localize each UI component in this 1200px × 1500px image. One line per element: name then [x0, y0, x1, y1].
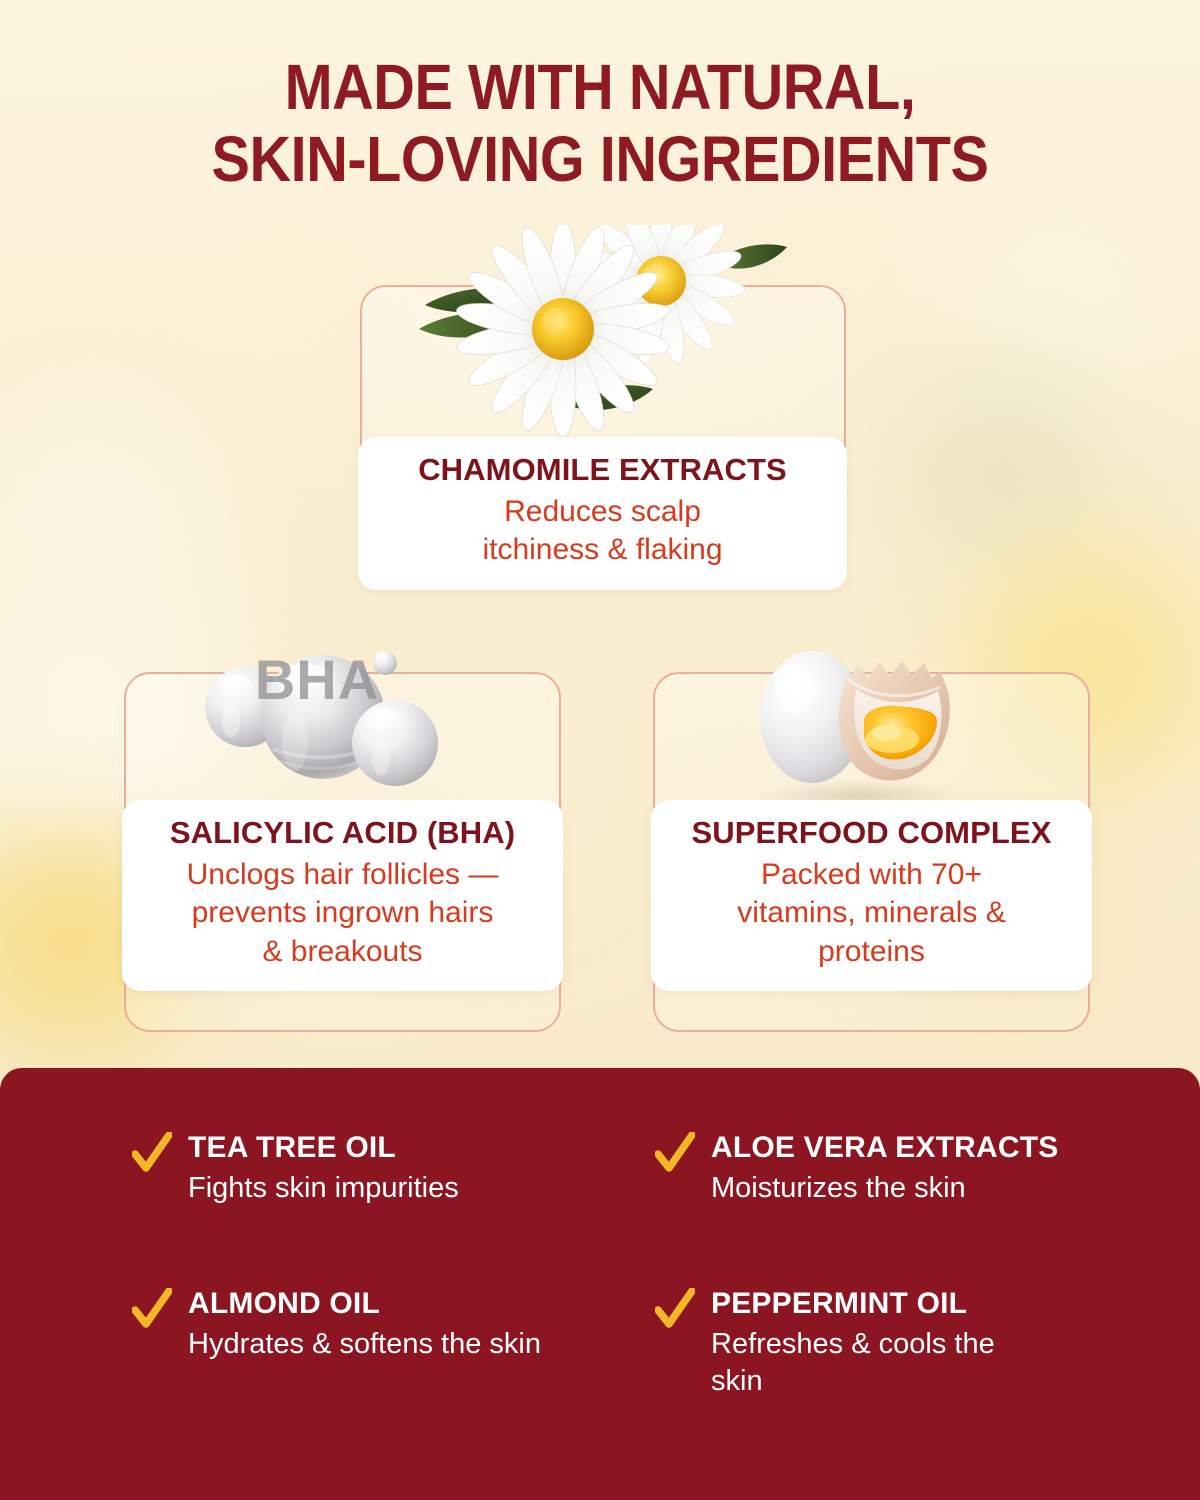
ingredient-title: SUPERFOOD COMPLEX — [665, 816, 1078, 851]
ingredient-description: Packed with 70+ vitamins, minerals & pro… — [665, 856, 1078, 971]
benefit-description: Hydrates & softens the skin — [188, 1326, 541, 1364]
ingredient-title: SALICYLIC ACID (BHA) — [136, 816, 549, 851]
benefit-name: PEPPERMINT OIL — [711, 1287, 967, 1320]
benefit-name: TEA TREE OIL — [188, 1131, 396, 1164]
benefit-name: ALMOND OIL — [188, 1287, 380, 1320]
ingredient-description: Reduces scalp itchiness & flaking — [372, 493, 833, 570]
benefit-description: Moisturizes the skin — [711, 1170, 1059, 1208]
check-icon — [132, 1132, 172, 1176]
ingredient-panel-bha: SALICYLIC ACID (BHA) Unclogs hair follic… — [122, 800, 563, 991]
benefit-description: Refreshes & cools the skin — [711, 1326, 1031, 1401]
benefit-item: ALMOND OIL Hydrates & softens the skin — [132, 1286, 655, 1401]
check-icon — [655, 1132, 695, 1176]
benefit-item: PEPPERMINT OIL Refreshes & cools the ski… — [655, 1286, 1112, 1401]
ingredient-panel-chamomile: CHAMOMILE EXTRACTS Reduces scalp itchine… — [358, 437, 847, 590]
ingredient-title: CHAMOMILE EXTRACTS — [372, 453, 833, 488]
ingredient-panel-superfood: SUPERFOOD COMPLEX Packed with 70+ vitami… — [651, 800, 1092, 991]
check-icon — [132, 1288, 172, 1332]
benefits-panel: TEA TREE OIL Fights skin impurities ALOE… — [0, 1068, 1200, 1500]
benefit-item: TEA TREE OIL Fights skin impurities — [132, 1130, 655, 1208]
benefit-name: ALOE VERA EXTRACTS — [711, 1131, 1059, 1164]
benefit-item: ALOE VERA EXTRACTS Moisturizes the skin — [655, 1130, 1112, 1208]
ingredient-description: Unclogs hair follicles — prevents ingrow… — [136, 856, 549, 971]
benefits-grid: TEA TREE OIL Fights skin impurities ALOE… — [132, 1130, 1112, 1401]
check-icon — [655, 1288, 695, 1332]
benefit-description: Fights skin impurities — [188, 1170, 459, 1208]
page-title: MADE WITH NATURAL, SKIN-LOVING INGREDIEN… — [60, 52, 1140, 195]
